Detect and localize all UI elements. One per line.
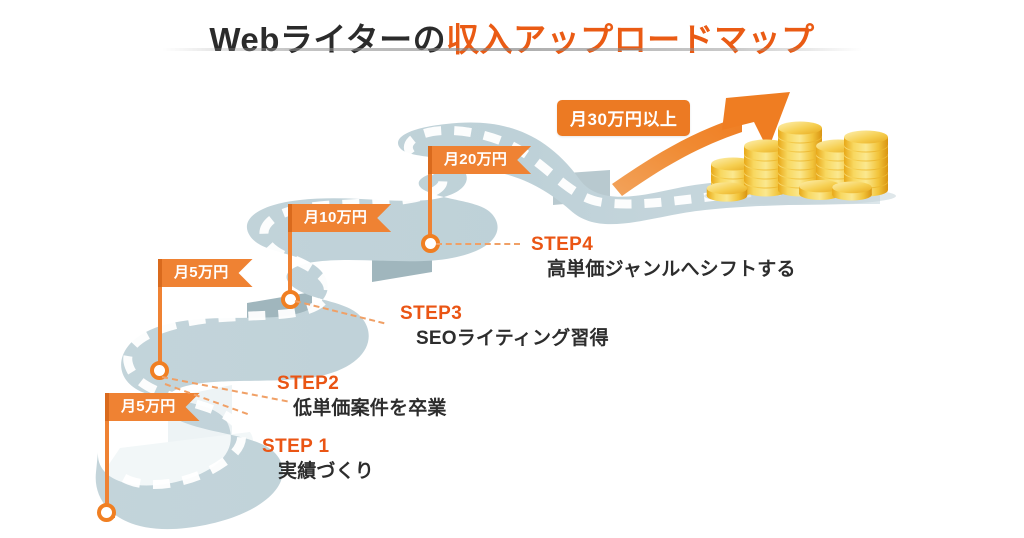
step-callout-1: STEP 1 実績づくり <box>262 436 374 484</box>
roadmap-illustration: 月5万円 月5万円 月10万円 月20万円 月30万円以上 STEP 1 実績づ… <box>0 0 1024 538</box>
flag-label-3: 月10万円 <box>292 204 391 232</box>
road-marker-2[interactable] <box>281 290 300 309</box>
step-desc-2: 低単価案件を卒業 <box>277 397 447 421</box>
flag-label-4: 月20万円 <box>432 146 531 174</box>
coin-stack-icon <box>0 0 1024 538</box>
step-label-2: STEP2 <box>277 373 447 395</box>
goal-badge: 月30万円以上 <box>557 100 690 136</box>
step-desc-4: 高単価ジャンルへシフトする <box>531 258 796 282</box>
step-callout-4: STEP4 高単価ジャンルへシフトする <box>531 234 796 282</box>
step-label-4: STEP4 <box>531 234 796 256</box>
leader-line-step4 <box>436 243 520 245</box>
step-callout-2: STEP2 低単価案件を卒業 <box>277 373 447 421</box>
step-desc-1: 実績づくり <box>262 460 374 484</box>
step-label-1: STEP 1 <box>262 436 374 458</box>
step-callout-3: STEP3 SEOライティング習得 <box>400 303 609 351</box>
step-desc-3: SEOライティング習得 <box>400 327 609 351</box>
step-label-3: STEP3 <box>400 303 609 325</box>
road-marker-0[interactable] <box>97 503 116 522</box>
